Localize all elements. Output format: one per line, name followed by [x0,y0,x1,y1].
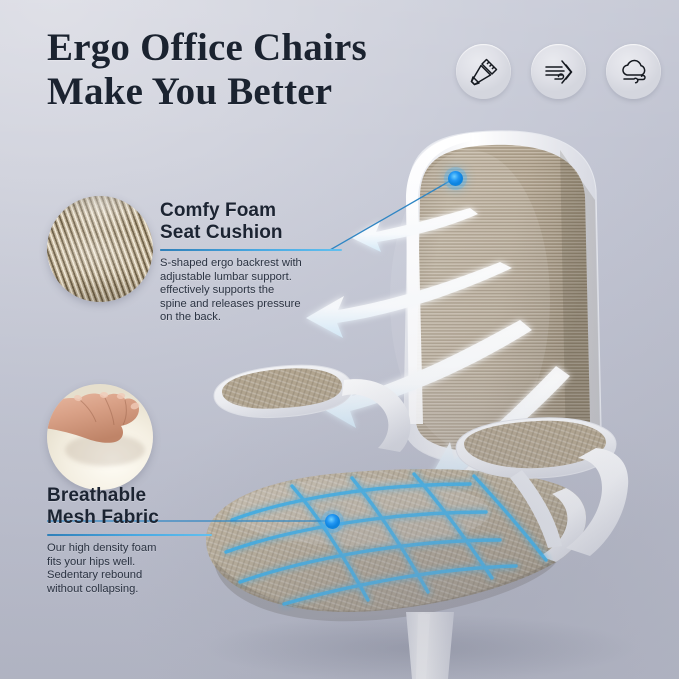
callout-body-line-5: on the back. [160,311,342,325]
airflow-arrow-icon [543,56,575,88]
mesh-shading [47,196,153,302]
callout-body-line-1: Our high density foam [47,542,212,556]
feature-badge-group [456,44,661,99]
hotspot-marker-backrest[interactable] [448,171,463,186]
badge-breathable-airflow [531,44,586,99]
hand-icon [47,384,153,490]
cloud-wind-icon [618,56,650,88]
callout-divider [47,534,212,536]
callout-title-line-1: Breathable [47,485,212,507]
callout-body-line-4: spine and releases pressure [160,298,342,312]
mesh-fabric-closeup [47,196,153,302]
headline-line-2: Make You Better [47,70,447,114]
callout-title-line-2: Mesh Fabric [47,507,212,529]
callout-body-line-3: Sedentary rebound [47,569,212,583]
page-title: Ergo Office Chairs Make You Better [47,26,447,114]
callout-body-line-3: effectively supports the [160,284,342,298]
foam-hand-press-closeup [47,384,153,490]
callout-body-line-1: S-shaped ergo backrest with [160,257,342,271]
callout-title: Breathable Mesh Fabric [47,485,212,528]
callout-title: Comfy Foam Seat Cushion [160,200,342,243]
callout-body-line-4: without collapsing. [47,583,212,597]
headline-line-1: Ergo Office Chairs [47,26,447,70]
callout-body: S-shaped ergo backrest with adjustable l… [160,257,342,325]
left-armrest [214,365,410,452]
callout-divider [160,249,342,251]
callout-body: Our high density foam fits your hips wel… [47,542,212,596]
hotspot-marker-seat[interactable] [325,514,340,529]
callout-body-line-2: adjustable lumbar support. [160,271,342,285]
product-marketing-image: Ergo Office Chairs Make You Better [0,0,679,679]
callout-breathable-mesh-fabric: Breathable Mesh Fabric Our high density … [47,485,212,596]
callout-title-line-2: Seat Cushion [160,222,342,244]
callout-body-line-2: fits your hips well. [47,556,212,570]
badge-ergonomic-design [456,44,511,99]
ruler-pencil-icon [468,56,500,88]
callout-comfy-foam-seat-cushion: Comfy Foam Seat Cushion S-shaped ergo ba… [160,200,342,325]
chair-column [406,612,454,679]
callout-title-line-1: Comfy Foam [160,200,342,222]
badge-soft-comfort [606,44,661,99]
